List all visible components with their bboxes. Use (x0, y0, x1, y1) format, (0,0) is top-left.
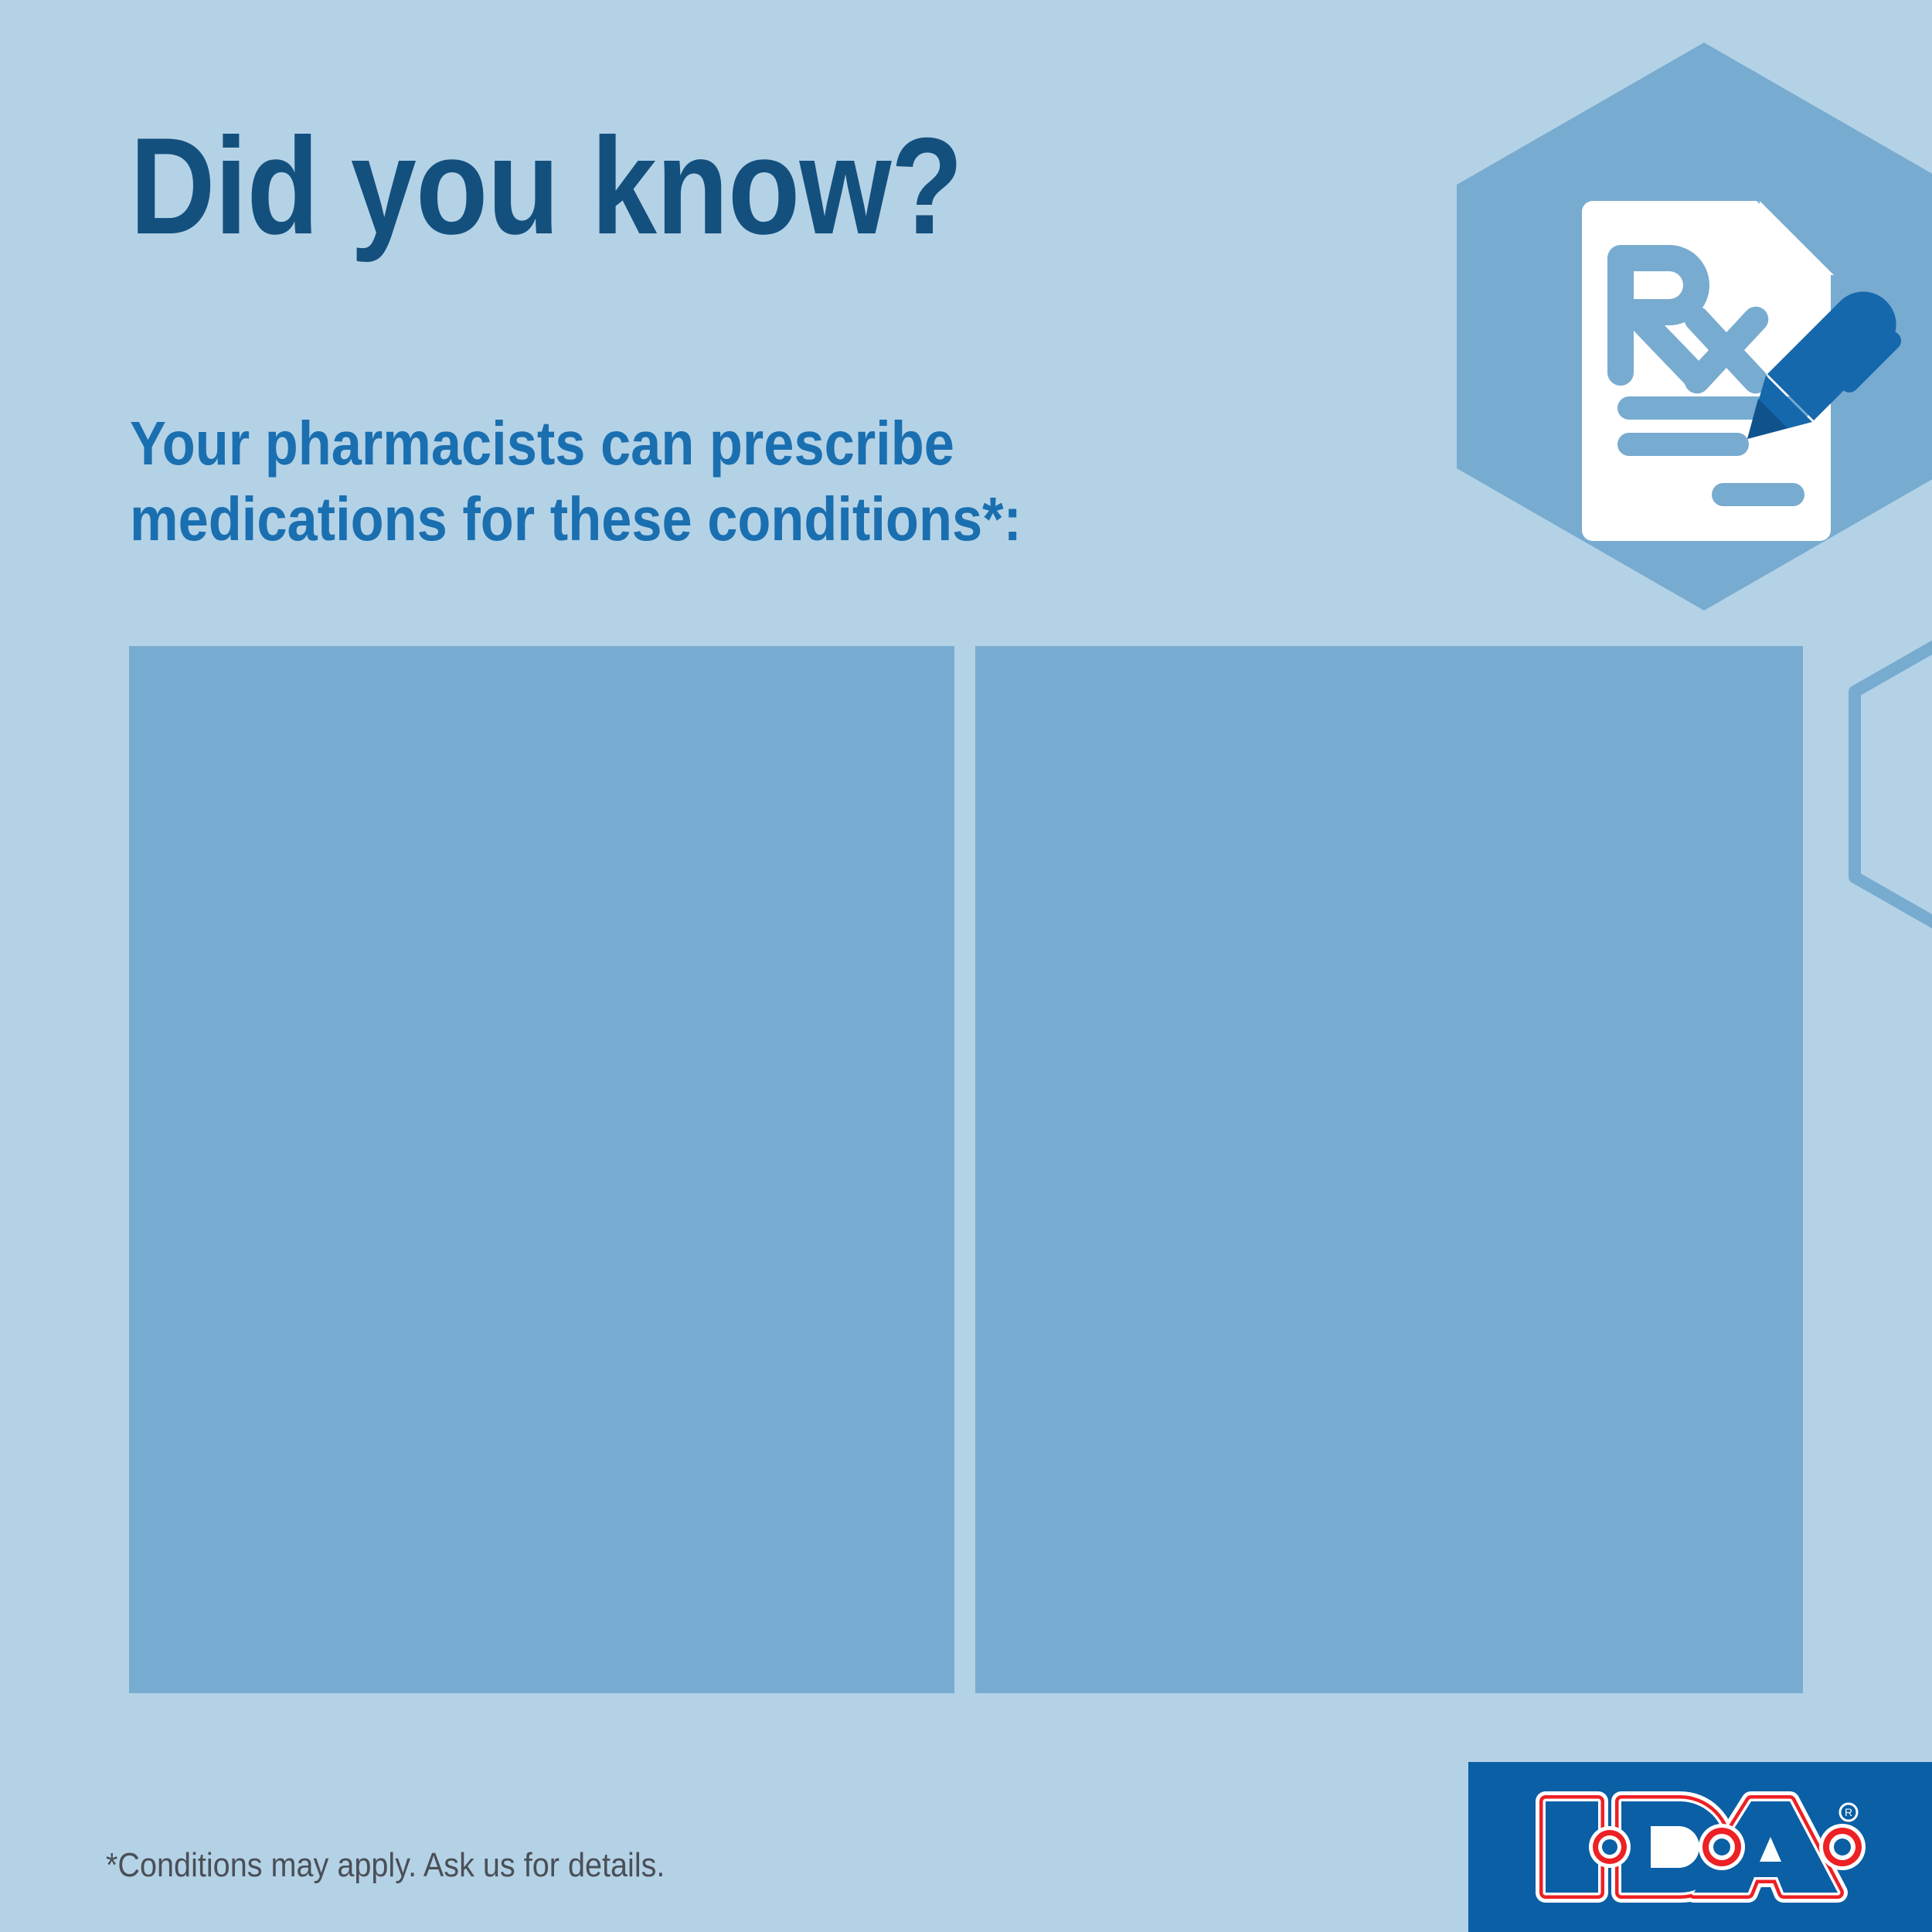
page-subtitle: Your pharmacists can prescribe medicatio… (130, 406, 1022, 556)
ida-logo-icon: R (1530, 1789, 1870, 1905)
content-panels (129, 646, 1803, 1693)
prescription-badge (1457, 43, 1932, 611)
left-content-panel (129, 646, 954, 1693)
brand-logo-block: R (1468, 1762, 1932, 1932)
svg-text:R: R (1845, 1806, 1852, 1818)
poster-canvas: Did you know? Your pharmacists can presc… (0, 0, 1932, 1932)
page-title: Did you know? (130, 117, 962, 255)
footnote-disclaimer: *Conditions may apply. Ask us for detail… (106, 1845, 665, 1886)
right-content-panel (975, 646, 1803, 1693)
registered-trademark-icon: R (1840, 1804, 1857, 1821)
rx-prescription-document-with-pen-icon (1582, 201, 1901, 541)
